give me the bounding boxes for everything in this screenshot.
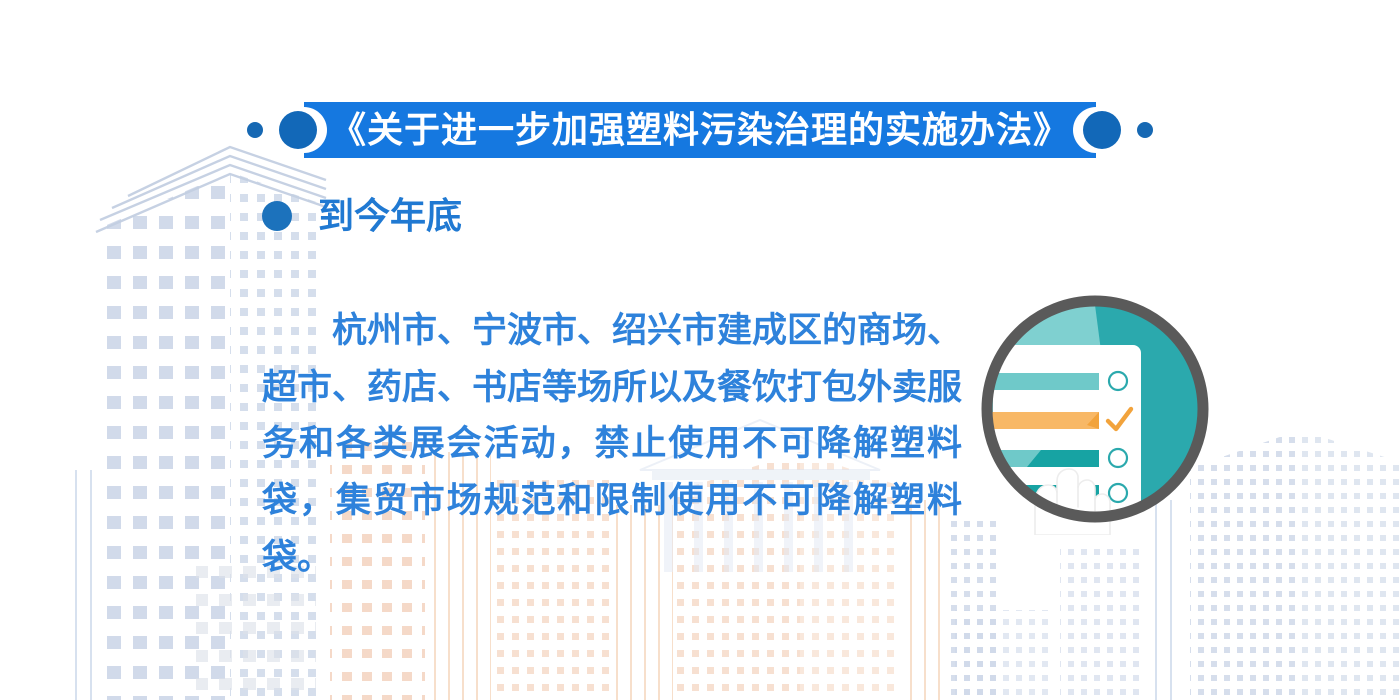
page-title: 《关于进一步加强塑料污染治理的实施办法》 (330, 112, 1070, 148)
title-accent-dot-right-small (1137, 122, 1153, 138)
checklist-circle-illustration (975, 295, 1215, 535)
subtitle-bullet-icon (262, 201, 292, 231)
title-banner-row: 《关于进一步加强塑料污染治理的实施办法》 (0, 95, 1400, 165)
poster-root: 《关于进一步加强塑料污染治理的实施办法》 到今年底 杭州市、宁波市、绍兴市建成区… (0, 0, 1400, 700)
title-accent-dot-left-small (247, 122, 263, 138)
subtitle-text: 到今年底 (318, 198, 462, 234)
subtitle-row: 到今年底 (262, 198, 462, 234)
body-paragraph: 杭州市、宁波市、绍兴市建成区的商场、超市、药店、书店等场所以及餐饮打包外卖服务和… (262, 303, 962, 586)
title-accent-dot-right-large (1083, 111, 1121, 149)
title-accent-dot-left-large (279, 111, 317, 149)
title-banner: 《关于进一步加强塑料污染治理的实施办法》 (304, 102, 1096, 158)
